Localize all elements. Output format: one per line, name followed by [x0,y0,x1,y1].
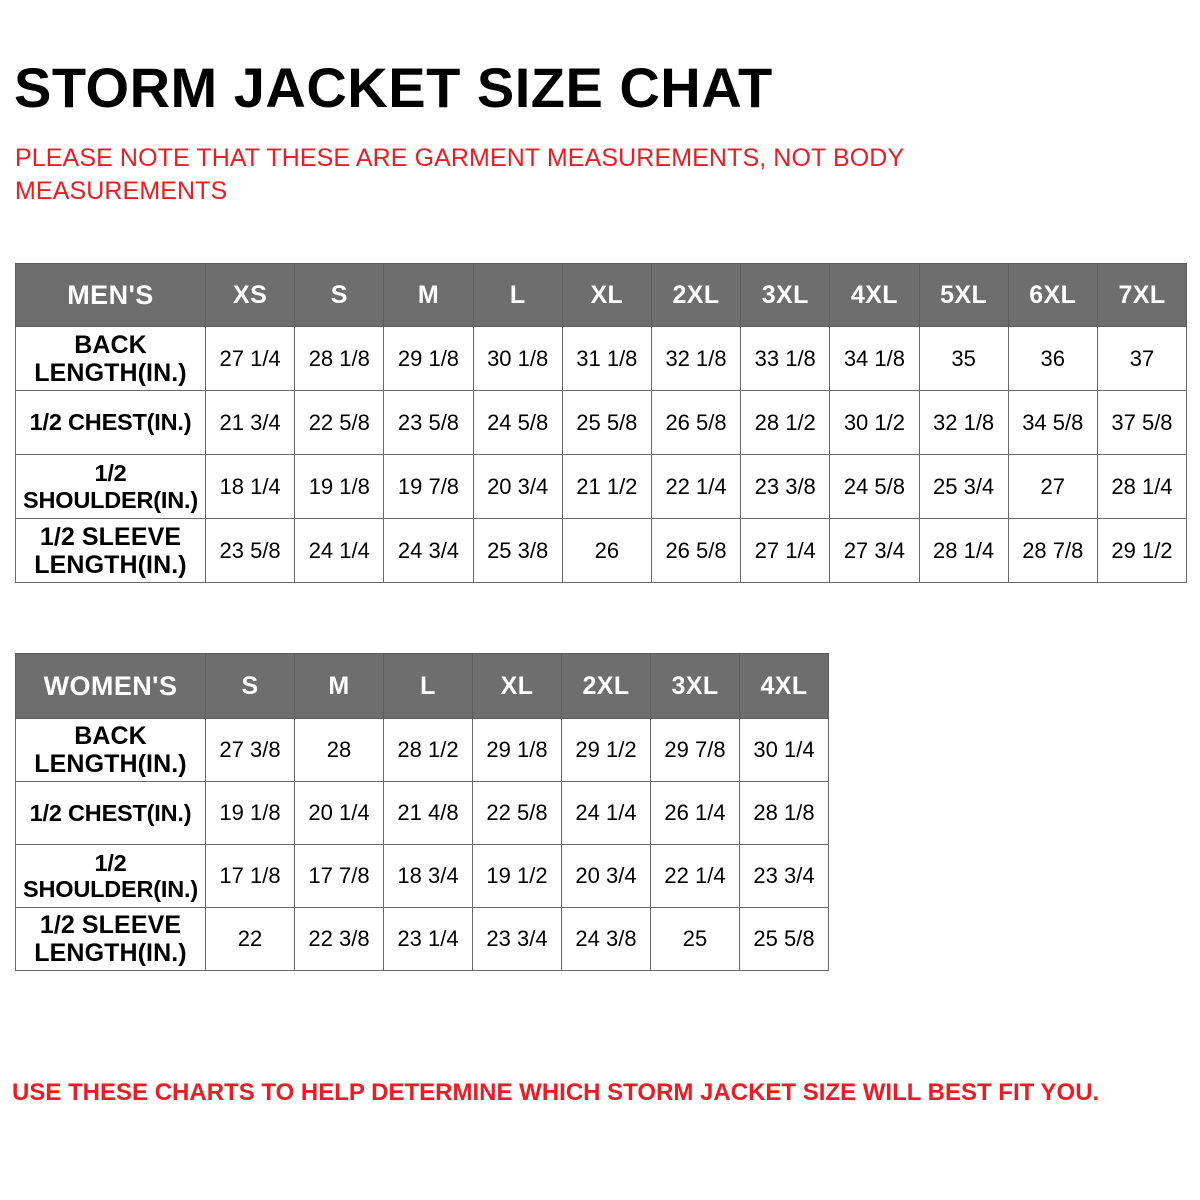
table-row: 1/2 SHOULDER(IN.)17 1/817 7/818 3/419 1/… [16,845,829,908]
measurement-value: 23 5/8 [206,519,295,583]
mens-size-header-l: L [473,264,562,327]
womens-size-header-s: S [206,654,295,719]
measurement-value: 35 [919,327,1008,391]
measurement-value: 19 1/8 [295,455,384,519]
measurement-label-line2: LENGTH(IN.) [16,939,205,967]
measurement-value: 33 1/8 [741,327,830,391]
measurement-label-line2: LENGTH(IN.) [16,359,205,387]
measurement-value: 24 5/8 [830,455,919,519]
measurement-value: 28 1/4 [1097,455,1186,519]
womens-measurement-label: 1/2 SHOULDER(IN.) [16,845,206,908]
mens-size-header-6xl: 6XL [1008,264,1097,327]
mens-measurement-label: 1/2 SLEEVELENGTH(IN.) [16,519,206,583]
measurement-value: 26 1/4 [651,782,740,845]
womens-size-header-xl: XL [473,654,562,719]
measurement-value: 22 5/8 [473,782,562,845]
measurement-value: 28 1/8 [295,327,384,391]
table-row: 1/2 CHEST(IN.)21 3/422 5/823 5/824 5/825… [16,391,1187,455]
page-title: STORM JACKET SIZE CHAT [14,60,773,116]
measurement-value: 29 1/2 [1097,519,1186,583]
mens-size-table: MEN'SXSSMLXL2XL3XL4XL5XL6XL7XL BACKLENGT… [15,263,1187,583]
measurement-value: 28 [295,719,384,782]
measurement-value: 25 3/4 [919,455,1008,519]
measurement-value: 32 1/8 [919,391,1008,455]
measurement-value: 26 [562,519,651,583]
womens-measurement-label: 1/2 SLEEVELENGTH(IN.) [16,908,206,971]
table-row: 1/2 SHOULDER(IN.)18 1/419 1/819 7/820 3/… [16,455,1187,519]
size-chart-page: STORM JACKET SIZE CHAT PLEASE NOTE THAT … [0,0,1200,1200]
measurement-value: 26 5/8 [651,519,740,583]
womens-measurement-label: BACKLENGTH(IN.) [16,719,206,782]
measurement-value: 24 3/8 [562,908,651,971]
measurement-value: 22 1/4 [651,455,740,519]
mens-size-header-xs: XS [206,264,295,327]
mens-measurement-label: BACKLENGTH(IN.) [16,327,206,391]
measurement-label-line1: BACK [16,722,205,750]
measurement-value: 19 7/8 [384,455,473,519]
measurement-value: 21 1/2 [562,455,651,519]
measurement-value: 23 3/8 [741,455,830,519]
womens-size-header-3xl: 3XL [651,654,740,719]
measurement-value: 28 1/4 [919,519,1008,583]
measurement-value: 24 1/4 [562,782,651,845]
measurement-value: 21 4/8 [384,782,473,845]
measurement-value: 29 1/2 [562,719,651,782]
measurement-value: 24 5/8 [473,391,562,455]
measurement-value: 31 1/8 [562,327,651,391]
measurement-value: 29 7/8 [651,719,740,782]
mens-table-body: BACKLENGTH(IN.)27 1/428 1/829 1/830 1/83… [16,327,1187,583]
measurement-value: 36 [1008,327,1097,391]
measurement-value: 18 3/4 [384,845,473,908]
womens-size-header-m: M [295,654,384,719]
mens-size-header-s: S [295,264,384,327]
measurement-value: 25 5/8 [740,908,829,971]
womens-size-table: WOMEN'SSMLXL2XL3XL4XL BACKLENGTH(IN.)27 … [15,653,829,971]
measurement-value: 34 1/8 [830,327,919,391]
measurement-value: 28 1/2 [741,391,830,455]
mens-size-header-2xl: 2XL [651,264,740,327]
measurement-value: 24 3/4 [384,519,473,583]
measurement-value: 23 3/4 [473,908,562,971]
measurement-value: 30 1/8 [473,327,562,391]
table-row: 1/2 SLEEVELENGTH(IN.)2222 3/823 1/423 3/… [16,908,829,971]
measurement-label-line2: LENGTH(IN.) [16,750,205,778]
mens-table-head: MEN'SXSSMLXL2XL3XL4XL5XL6XL7XL [16,264,1187,327]
measurement-value: 22 [206,908,295,971]
measurement-label-line1: 1/2 SLEEVE [16,523,205,551]
womens-table-corner-label: WOMEN'S [16,654,206,719]
measurement-value: 37 [1097,327,1186,391]
measurement-value: 32 1/8 [651,327,740,391]
measurement-value: 26 5/8 [651,391,740,455]
womens-table-body: BACKLENGTH(IN.)27 3/82828 1/229 1/829 1/… [16,719,829,971]
measurement-value: 20 1/4 [295,782,384,845]
mens-size-header-5xl: 5XL [919,264,1008,327]
measurement-value: 28 1/2 [384,719,473,782]
measurement-value: 29 1/8 [473,719,562,782]
measurement-value: 25 [651,908,740,971]
mens-table-corner-label: MEN'S [16,264,206,327]
measurement-value: 30 1/4 [740,719,829,782]
measurement-value: 24 1/4 [295,519,384,583]
measurement-value: 27 1/4 [206,327,295,391]
mens-size-header-3xl: 3XL [741,264,830,327]
mens-size-header-m: M [384,264,473,327]
measurement-value: 27 3/8 [206,719,295,782]
measurement-label-line2: LENGTH(IN.) [16,551,205,579]
measurement-value: 27 1/4 [741,519,830,583]
womens-header-row: WOMEN'SSMLXL2XL3XL4XL [16,654,829,719]
measurement-value: 30 1/2 [830,391,919,455]
womens-size-header-2xl: 2XL [562,654,651,719]
table-row: 1/2 SLEEVELENGTH(IN.)23 5/824 1/424 3/42… [16,519,1187,583]
mens-measurement-label: 1/2 SHOULDER(IN.) [16,455,206,519]
measurement-value: 22 1/4 [651,845,740,908]
table-row: BACKLENGTH(IN.)27 1/428 1/829 1/830 1/83… [16,327,1187,391]
womens-table-head: WOMEN'SSMLXL2XL3XL4XL [16,654,829,719]
garment-measurement-note: PLEASE NOTE THAT THESE ARE GARMENT MEASU… [15,142,975,208]
measurement-value: 21 3/4 [206,391,295,455]
measurement-label-line1: BACK [16,331,205,359]
measurement-value: 19 1/8 [206,782,295,845]
fit-guidance-note: USE THESE CHARTS TO HELP DETERMINE WHICH… [12,1079,1162,1107]
mens-header-row: MEN'SXSSMLXL2XL3XL4XL5XL6XL7XL [16,264,1187,327]
measurement-value: 34 5/8 [1008,391,1097,455]
measurement-value: 22 5/8 [295,391,384,455]
measurement-value: 23 1/4 [384,908,473,971]
measurement-value: 23 5/8 [384,391,473,455]
measurement-value: 29 1/8 [384,327,473,391]
measurement-value: 28 1/8 [740,782,829,845]
mens-size-header-4xl: 4XL [830,264,919,327]
measurement-value: 18 1/4 [206,455,295,519]
measurement-value: 25 3/8 [473,519,562,583]
measurement-value: 20 3/4 [562,845,651,908]
measurement-value: 17 1/8 [206,845,295,908]
measurement-value: 20 3/4 [473,455,562,519]
measurement-value: 19 1/2 [473,845,562,908]
table-row: 1/2 CHEST(IN.)19 1/820 1/421 4/822 5/824… [16,782,829,845]
measurement-label-line1: 1/2 SLEEVE [16,911,205,939]
measurement-value: 27 [1008,455,1097,519]
measurement-value: 28 7/8 [1008,519,1097,583]
measurement-value: 25 5/8 [562,391,651,455]
measurement-value: 22 3/8 [295,908,384,971]
table-row: BACKLENGTH(IN.)27 3/82828 1/229 1/829 1/… [16,719,829,782]
mens-measurement-label: 1/2 CHEST(IN.) [16,391,206,455]
womens-size-header-l: L [384,654,473,719]
measurement-value: 27 3/4 [830,519,919,583]
womens-size-header-4xl: 4XL [740,654,829,719]
mens-size-header-7xl: 7XL [1097,264,1186,327]
measurement-value: 37 5/8 [1097,391,1186,455]
womens-measurement-label: 1/2 CHEST(IN.) [16,782,206,845]
measurement-value: 23 3/4 [740,845,829,908]
measurement-value: 17 7/8 [295,845,384,908]
mens-size-header-xl: XL [562,264,651,327]
